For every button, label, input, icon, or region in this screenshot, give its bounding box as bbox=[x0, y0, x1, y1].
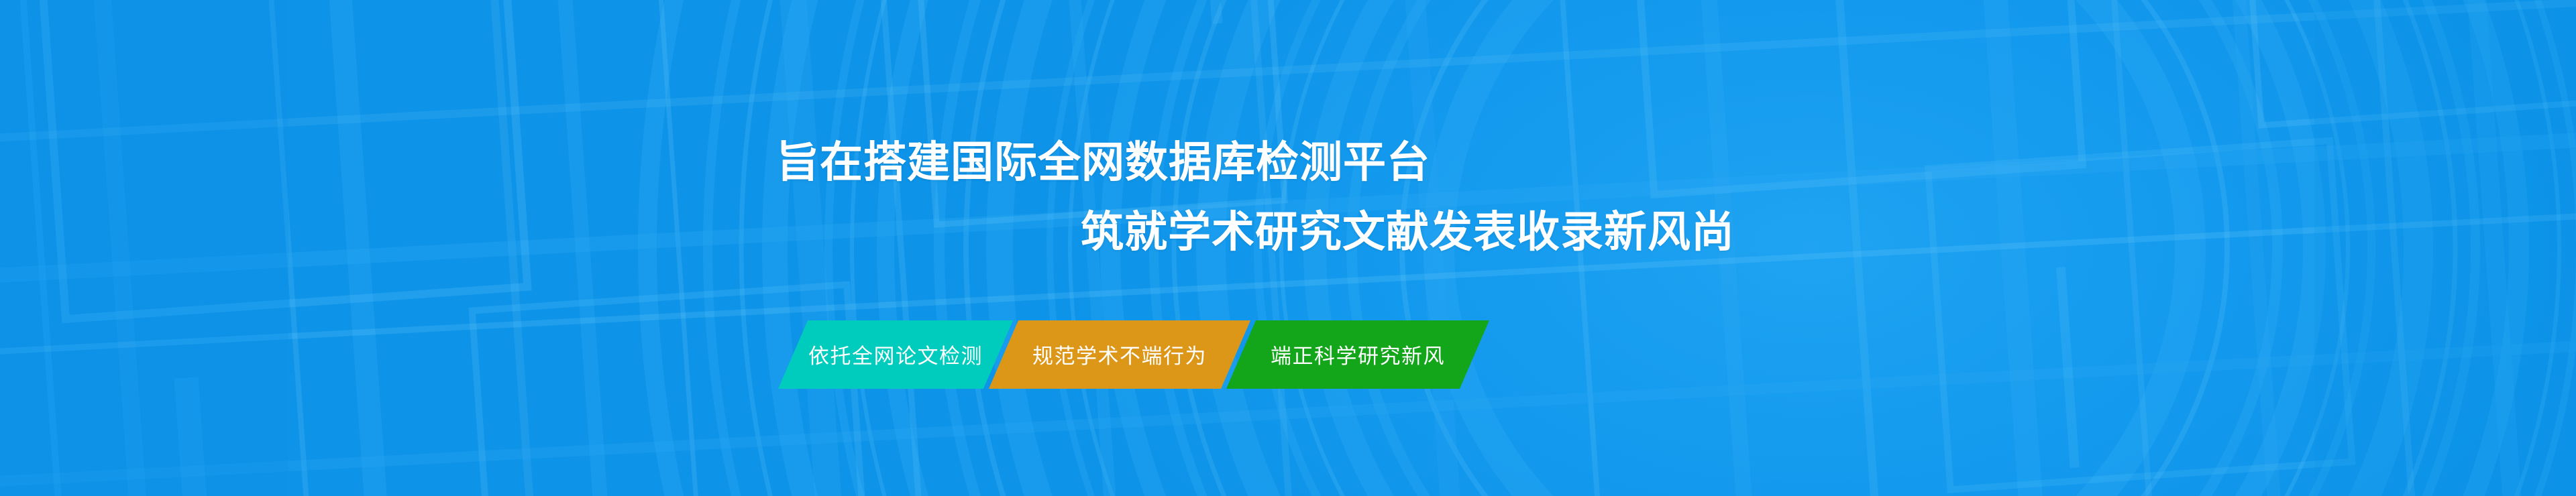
feature-tag-label: 端正科学研究新风 bbox=[1271, 339, 1445, 369]
feature-tag-label: 依托全网论文检测 bbox=[808, 339, 983, 369]
feature-tag-paper-detection[interactable]: 依托全网论文检测 bbox=[778, 320, 1013, 389]
feature-tag-research-ethos[interactable]: 端正科学研究新风 bbox=[1226, 320, 1489, 389]
feature-tag-ribbon: 依托全网论文检测 规范学术不端行为 端正科学研究新风 bbox=[778, 320, 1489, 389]
feature-tag-academic-misconduct[interactable]: 规范学术不端行为 bbox=[989, 320, 1250, 389]
feature-tag-label: 规范学术不端行为 bbox=[1032, 339, 1207, 369]
promo-banner: 旨在搭建国际全网数据库检测平台 筑就学术研究文献发表收录新风尚 依托全网论文检测… bbox=[0, 0, 2576, 496]
background-pattern bbox=[0, 0, 2576, 496]
